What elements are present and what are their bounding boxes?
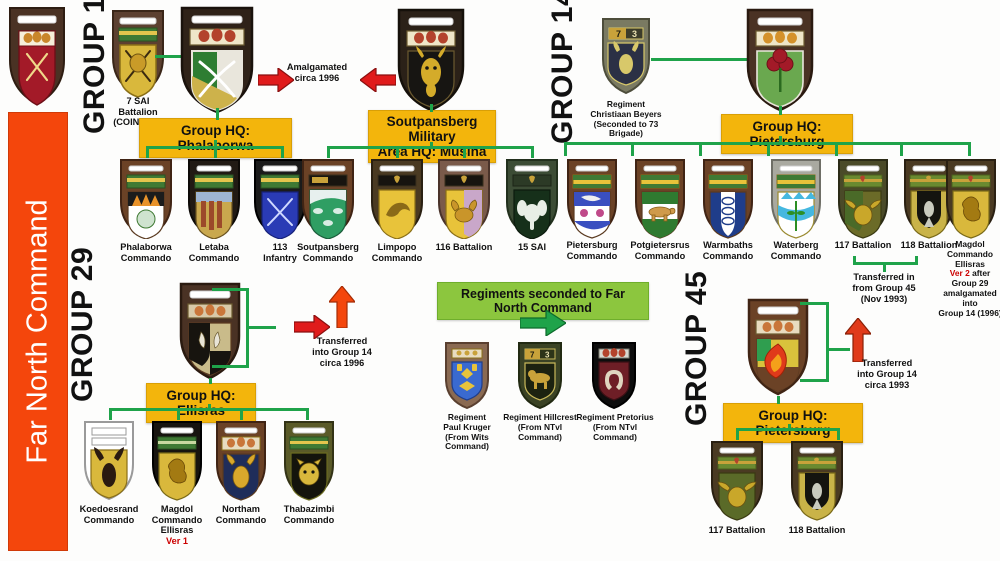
badge-116-battalion	[436, 157, 492, 239]
badge-group-14-hq	[744, 6, 816, 112]
caption-line: Pietersburg	[554, 240, 630, 251]
badge-116-battalion-caption: 116 Battalion	[426, 242, 502, 253]
badge-regiment-pretorius-caption: Regiment Pretorius (From NTvl Command)	[574, 413, 656, 442]
badge-phalaborwa-commando	[118, 157, 174, 239]
caption-line: Letaba	[176, 242, 252, 253]
caption-line: Commando	[176, 253, 252, 264]
caption-line: Soutpansberg	[290, 242, 366, 253]
note-line: into Group 14	[300, 347, 384, 358]
arrow-amalgamated-right	[360, 68, 396, 97]
caption-line: Limpopo	[359, 242, 435, 253]
group-14-title-label: GROUP 14	[546, 0, 580, 144]
badge-regiment-christiaan-beyers: 7 3	[600, 16, 652, 96]
connector-g29-bar	[109, 408, 309, 411]
connector-g14-b7	[968, 142, 971, 156]
caption-line: Commando	[758, 251, 834, 262]
connector-transfer-r	[915, 256, 918, 264]
svg-text:3: 3	[545, 351, 550, 360]
svg-text:7: 7	[530, 351, 535, 360]
badge-thabazimbi-commando-caption: Thabazimbi Commando	[271, 504, 347, 525]
badge-soutpansberg-commando	[300, 157, 356, 239]
note-g29-transferred: Transferred into Group 14 circa 1996	[300, 336, 384, 369]
caption-line: Command)	[430, 442, 504, 452]
note-line: from Group 45	[843, 283, 925, 294]
badge-limpopo-commando-caption: Limpopo Commando	[359, 242, 435, 263]
badge-regiment-christiaan-beyers-caption: Regiment Christiaan Beyers (Seconded to …	[578, 100, 674, 139]
magdol-v2-version-badge: Ver 2	[950, 268, 970, 278]
connector-g13-stem	[216, 108, 219, 120]
badge-7-sai-battalion	[110, 8, 166, 98]
badge-warmbaths-commando-caption: Warmbaths Commando	[690, 240, 766, 261]
caption-line: Commando	[71, 515, 147, 526]
connector-g14-b5	[835, 142, 838, 156]
badge-regiment-paul-kruger-caption: Regiment Paul Kruger (From Wits Command)	[430, 413, 504, 452]
badge-magdol-commando-ellisras-v1	[150, 419, 204, 501]
connector-soutp-bar	[327, 146, 534, 149]
badge-118-battalion-g45	[789, 439, 845, 521]
caption-line: 117 Battalion	[699, 525, 775, 536]
badge-potgietersrus-commando	[633, 157, 687, 239]
badge-regiment-hillcrest-caption: Regiment Hillcrest (From NTvl Command)	[500, 413, 580, 442]
magdol-v1-version-badge: Ver 1	[139, 536, 215, 547]
far-north-command-banner: Far North Command	[8, 112, 68, 551]
svg-text:3: 3	[632, 29, 637, 39]
connector-g14-b6	[900, 142, 903, 156]
hq-label-soutpansberg[interactable]: Soutpansberg Military Area HQ: Musina	[368, 110, 496, 163]
badge-pietersburg-commando-caption: Pietersburg Commando	[554, 240, 630, 261]
badge-warmbaths-commando	[701, 157, 755, 239]
caption-line: Commando	[690, 251, 766, 262]
caption-line: (Seconded to 73 Brigade)	[578, 120, 674, 140]
note-line: circa 1996	[300, 358, 384, 369]
caption-line: Battalion	[100, 107, 176, 118]
far-north-command-crest	[6, 4, 68, 108]
caption-line: 117 Battalion	[825, 240, 901, 251]
badge-magdol-v2-caption: Magdol Commando Ellisras Ver 2 after Gro…	[931, 240, 1000, 318]
group-45-title-label: GROUP 45	[680, 271, 714, 426]
caption-line: Northam	[203, 504, 279, 515]
connector-g45-stem	[777, 396, 780, 404]
group-45-title: GROUP 45	[676, 300, 718, 430]
caption-line: Command)	[574, 433, 656, 443]
caption-line: 7 SAI	[100, 96, 176, 107]
badge-soutpansberg-commando-caption: Soutpansberg Commando	[290, 242, 366, 263]
hq-label-group-45-text: Group HQ: Pietersburg	[755, 408, 830, 438]
badge-waterberg-commando-caption: Waterberg Commando	[758, 240, 834, 261]
caption-line: Phalaborwa	[108, 242, 184, 253]
badge-northam-commando-caption: Northam Commando	[203, 504, 279, 525]
badge-15-sai	[504, 157, 560, 239]
connector-soutp-stem	[430, 104, 433, 112]
far-north-command-banner-label: Far North Command	[22, 199, 55, 463]
note-line: Amalgamated	[277, 62, 357, 73]
connector-g14-stem	[779, 106, 782, 115]
caption-line: Commando	[290, 253, 366, 264]
group-14-title: GROUP 14	[540, 0, 582, 150]
note-transferred-in-group45: Transferred in from Group 45 (Nov 1993)	[843, 272, 925, 305]
caption-line: Ellisras	[139, 525, 215, 536]
arrow-seconded	[520, 310, 566, 341]
connector-g14-b2	[631, 142, 634, 156]
note-line: Transferred in	[843, 272, 925, 283]
badge-magdol-commando-ellisras-v2	[944, 157, 998, 239]
note-g45-transferred: Transferred into Group 14 circa 1993	[845, 358, 929, 391]
connector-g45-bar	[736, 428, 840, 431]
connector-g14-b1	[564, 142, 567, 156]
badge-waterberg-commando	[769, 157, 823, 239]
connector-transfer-stem	[883, 262, 886, 272]
badge-117-battalion-g45	[709, 439, 765, 521]
badge-koedoesrand-commando-caption: Koedoesrand Commando	[71, 504, 147, 525]
connector-g29-bracket-bottom	[212, 365, 248, 368]
badge-regiment-pretorius	[590, 340, 638, 410]
caption-line: Command)	[500, 433, 580, 443]
badge-118-battalion-g45-caption: 118 Battalion	[779, 525, 855, 536]
caption-line: Commando	[203, 515, 279, 526]
badge-koedoesrand-commando	[82, 419, 136, 501]
badge-regiment-hillcrest: 7 3	[516, 340, 564, 410]
caption-line: Commando	[108, 253, 184, 264]
badge-phalaborwa-commando-caption: Phalaborwa Commando	[108, 242, 184, 263]
caption-line: Commando	[622, 251, 698, 262]
hq-label-group-14[interactable]: Group HQ: Pietersburg	[721, 114, 853, 154]
badge-pietersburg-commando	[565, 157, 619, 239]
group-29-title-label: GROUP 29	[66, 247, 100, 402]
connector-rcb	[651, 58, 747, 61]
group-29-title: GROUP 29	[62, 278, 104, 408]
magdol-v2-version-suffix: after	[970, 268, 990, 278]
connector-g45-bracket-top	[800, 302, 828, 305]
badge-group-13-hq	[178, 4, 256, 114]
caption-line: Commando	[359, 253, 435, 264]
caption-line: Commando	[554, 251, 630, 262]
note-line: into Group 14	[845, 369, 929, 380]
connector-g14-b4	[767, 142, 770, 156]
note-line: Transferred	[300, 336, 384, 347]
caption-line: Warmbaths	[690, 240, 766, 251]
badge-thabazimbi-commando	[282, 419, 336, 501]
arrow-g29-up	[329, 286, 355, 333]
badge-potgietersrus-commando-caption: Potgietersrus Commando	[622, 240, 698, 261]
badge-letaba-commando-caption: Letaba Commando	[176, 242, 252, 263]
connector-g45-bracket-bottom	[800, 379, 828, 382]
connector-g29-stem	[209, 378, 212, 384]
note-line: circa 1996	[277, 73, 357, 84]
caption-line: Commando	[271, 515, 347, 526]
caption-line: Potgietersrus	[622, 240, 698, 251]
connector-g45-bracket	[826, 302, 829, 382]
connector-g29-out	[246, 326, 276, 329]
connector-transfer-l	[853, 256, 856, 264]
caption-line: Thabazimbi	[271, 504, 347, 515]
caption-line: Koedoesrand	[71, 504, 147, 515]
hq-label-soutpansberg-line1: Soutpansberg Military	[377, 114, 487, 144]
caption-line: Group 14 (1996)	[931, 309, 1000, 319]
badge-117-battalion-g45-caption: 117 Battalion	[699, 525, 775, 536]
connector-g29-bracket-top	[212, 288, 248, 291]
note-line: Transferred	[845, 358, 929, 369]
badge-117-battalion-g14	[836, 157, 890, 239]
svg-text:7: 7	[616, 29, 621, 39]
note-line: circa 1993	[845, 380, 929, 391]
caption-line: Waterberg	[758, 240, 834, 251]
badge-northam-commando	[214, 419, 268, 501]
badge-limpopo-commando	[369, 157, 425, 239]
amalgamated-note: Amalgamated circa 1996	[277, 62, 357, 84]
caption-line: 116 Battalion	[426, 242, 502, 253]
connector-g14-b3	[699, 142, 702, 156]
badge-regiment-paul-kruger	[443, 340, 491, 410]
hq-label-group-45[interactable]: Group HQ: Pietersburg	[723, 403, 863, 443]
badge-letaba-commando	[186, 157, 242, 239]
caption-line: 118 Battalion	[779, 525, 855, 536]
badge-soutpansberg-military-area-hq	[395, 6, 467, 112]
note-line: (Nov 1993)	[843, 294, 925, 305]
badge-117-battalion-g14-caption: 117 Battalion	[825, 240, 901, 251]
